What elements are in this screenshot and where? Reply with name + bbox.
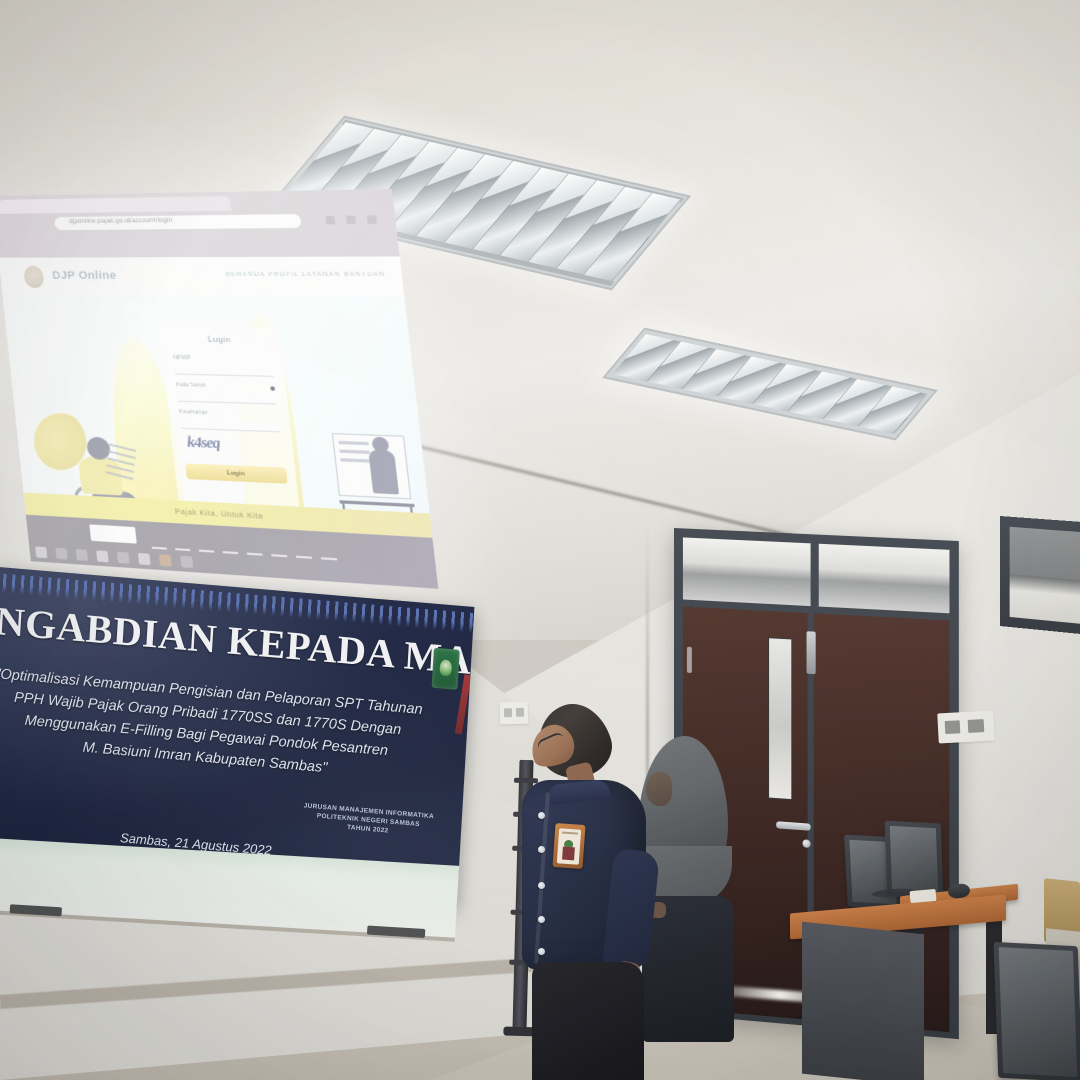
browser-chrome: djponline.pajak.go.id/account/login (0, 189, 400, 258)
light-switch-panel[interactable] (937, 711, 994, 744)
high-window (1000, 516, 1080, 638)
browser-tab[interactable] (0, 196, 232, 214)
security-input[interactable] (180, 419, 280, 432)
explorer-icon[interactable] (96, 550, 109, 562)
show-password-icon[interactable] (270, 386, 275, 390)
transom-pane-left (683, 537, 811, 606)
login-button[interactable]: Login (185, 463, 288, 483)
projected-screen: djponline.pajak.go.id/account/login DJP … (0, 189, 438, 589)
security-label: Keamanan (179, 409, 208, 416)
npwp-input[interactable] (174, 365, 273, 377)
paper-sheet (910, 889, 937, 903)
start-icon[interactable] (35, 546, 47, 558)
browser-icon[interactable] (117, 552, 130, 564)
app-icon[interactable] (180, 556, 193, 568)
man-trousers (532, 962, 644, 1080)
login-card: Login NPWP Kata Sandi Keamanan k4seq Log… (159, 326, 301, 522)
browser-url-text: djponline.pajak.go.id/account/login (69, 218, 173, 225)
front-computer-desk (790, 892, 1006, 1080)
site-nav[interactable]: BERANDA PROFIL LAYANAN BANTUAN (225, 272, 385, 279)
login-button-label: Login (185, 463, 288, 483)
browser-star-icon[interactable] (325, 216, 335, 225)
password-input[interactable] (177, 392, 277, 404)
password-label: Kata Sandi (176, 382, 206, 389)
site-brand: DJP Online (52, 270, 117, 282)
door-transom-windows (683, 537, 950, 613)
npwp-label: NPWP (173, 355, 191, 362)
djp-crest-icon (23, 266, 44, 288)
document-illustration (105, 443, 136, 484)
folder-icon[interactable] (138, 553, 151, 565)
transom-pane-right (819, 544, 950, 614)
window-pane (1010, 527, 1080, 627)
browser-profile-icon[interactable] (346, 215, 356, 224)
whiteboard-marker-tray-right (367, 926, 425, 938)
taskbar-popup[interactable] (89, 524, 137, 543)
office-icon[interactable] (159, 554, 172, 566)
monitor-foreground (994, 942, 1080, 1080)
login-heading: Login (207, 335, 231, 345)
photo-scene: djponline.pajak.go.id/account/login DJP … (0, 0, 1080, 1080)
browser-menu-icon[interactable] (367, 215, 377, 224)
whiteboard-marker-tray-left (10, 904, 62, 916)
id-badge (553, 823, 586, 869)
door-lock-icon[interactable] (807, 631, 816, 674)
taskview-icon[interactable] (76, 549, 88, 561)
door-vision-panel (768, 637, 792, 800)
door-keyhole-icon[interactable] (802, 839, 810, 848)
institution-logo-icon (432, 648, 460, 690)
site-header: DJP Online BERANDA PROFIL LAYANAN BANTUA… (0, 256, 404, 295)
search-icon[interactable] (55, 548, 67, 560)
captcha-text: k4seq (186, 434, 220, 453)
man-looking-up (516, 700, 656, 1080)
